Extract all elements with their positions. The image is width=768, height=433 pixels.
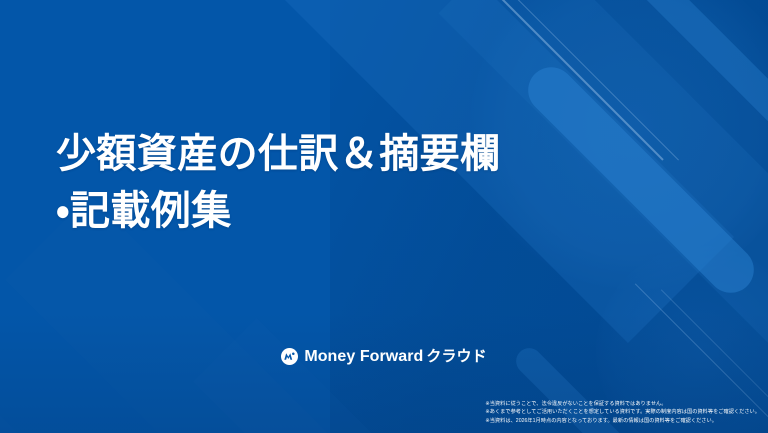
brand-logo-name: Money Forward (304, 348, 423, 365)
title-line-1: 少額資産の仕訳＆摘要欄 (56, 126, 696, 183)
page-title: 少額資産の仕訳＆摘要欄 ・記載例集 (56, 126, 696, 240)
background-capsule-bar-2 (630, 0, 768, 132)
background-diagonal-faint-mid (193, 318, 497, 433)
disclaimer-line-3: ※当資料は、2026年1月時点の内容となっております。最新の情報は国の資料等をご… (485, 417, 760, 425)
title-slide: 少額資産の仕訳＆摘要欄 ・記載例集 Money Forwardクラウド ※当資料… (0, 0, 768, 433)
money-forward-m-mark-icon (281, 348, 298, 365)
title-line-2: ・記載例集 (56, 183, 696, 240)
disclaimer-line-2: ※あくまで参考としてご活用いただくことを想定している資料です。実際の制度内容は国… (485, 408, 760, 416)
brand-logo-product: クラウド (426, 348, 486, 365)
brand-logo-text: Money Forwardクラウド (304, 349, 486, 365)
disclaimer-note: ※当資料に従うことで、法令違反がないことを保証する資料ではありません。 ※あくま… (485, 400, 760, 425)
disclaimer-line-1: ※当資料に従うことで、法令違反がないことを保証する資料ではありません。 (485, 400, 760, 408)
brand-logo: Money Forwardクラウド (0, 348, 768, 365)
